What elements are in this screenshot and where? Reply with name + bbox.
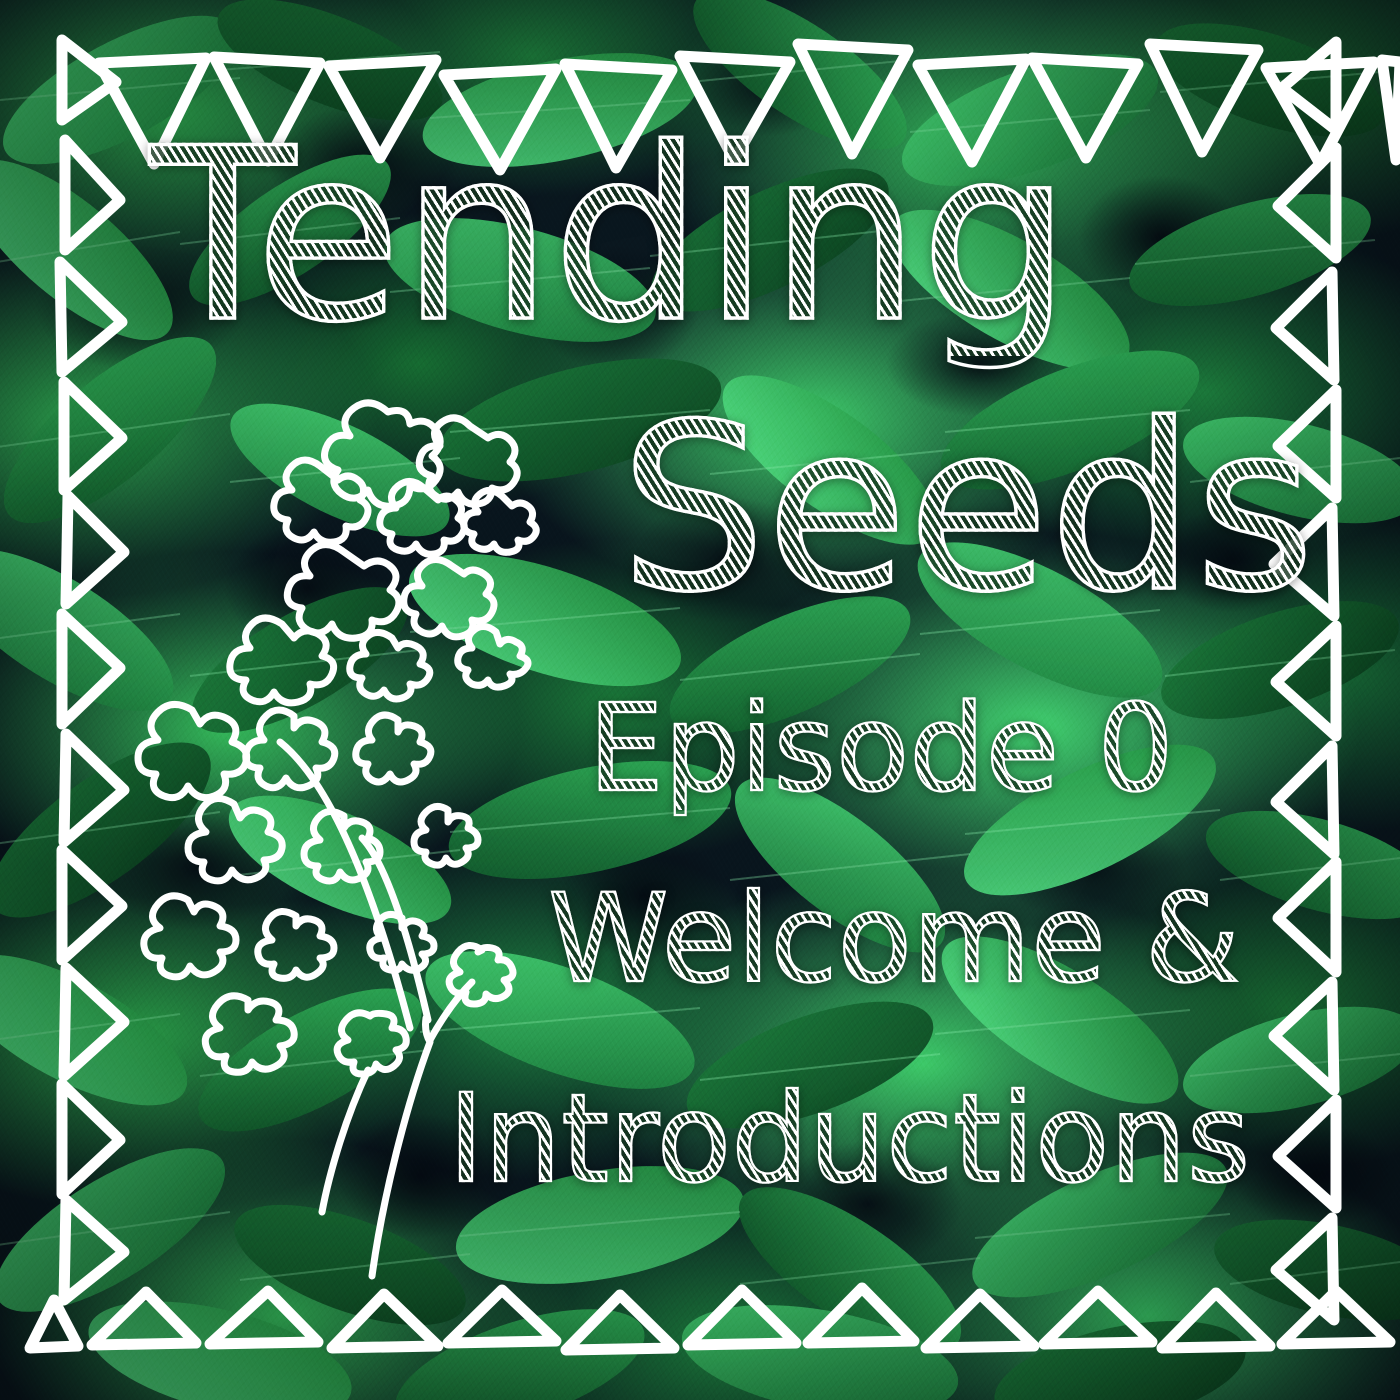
episode-title-line-2: Introductions <box>448 1078 1250 1200</box>
podcast-cover-art: Tending Seeds Episode 0 Welcome & Introd… <box>0 0 1400 1400</box>
podcast-title-line-2: Seeds <box>620 395 1315 625</box>
podcast-title-line-1: Tending <box>150 118 1071 356</box>
episode-title-line-1: Welcome & <box>548 878 1240 1000</box>
episode-number-label: Episode 0 <box>588 690 1174 810</box>
title-text-block: Tending Seeds Episode 0 Welcome & Introd… <box>0 0 1400 1400</box>
